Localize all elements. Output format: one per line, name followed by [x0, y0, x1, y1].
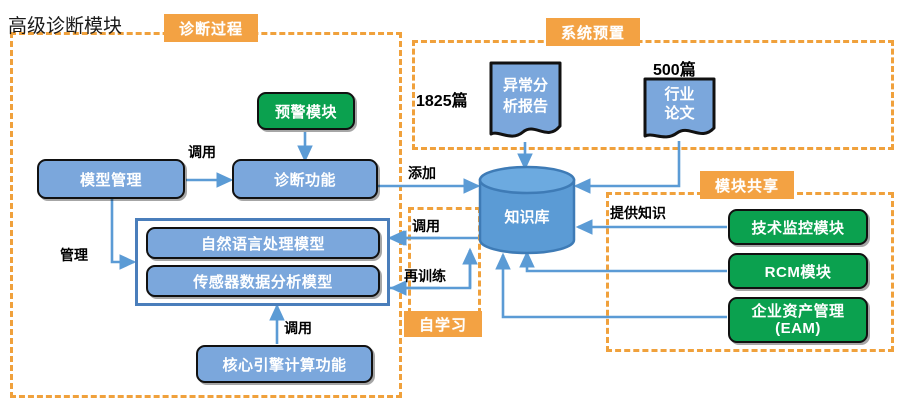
page-title: 高级诊断模块: [8, 11, 122, 38]
node-knowledge-base[interactable]: 知识库: [478, 166, 576, 254]
edge-label-add: 添加: [408, 163, 436, 183]
edge-label-manage: 管理: [60, 245, 88, 265]
group-label-diagnosis-process: 诊断过程: [164, 14, 258, 42]
group-box-diagnosis-process: [10, 32, 402, 398]
count-label-reports: 1825篇: [416, 87, 468, 111]
document-shape-report: [487, 60, 564, 144]
node-core-engine[interactable]: 核心引擎计算功能: [196, 345, 373, 383]
eam-module-label-line2: (EAM): [775, 320, 821, 337]
cylinder-shape: [478, 166, 576, 254]
node-tech-monitor-module[interactable]: 技术监控模块: [728, 209, 868, 245]
node-industry-paper[interactable]: 行业 论文: [641, 76, 718, 144]
document-shape-paper: [641, 76, 718, 144]
node-diagnosis-function[interactable]: 诊断功能: [232, 159, 378, 199]
edge-label-invoke-engine: 调用: [284, 318, 312, 338]
node-eam-module[interactable]: 企业资产管理 (EAM): [728, 297, 868, 343]
group-label-module-sharing: 模块共享: [700, 171, 794, 199]
eam-module-label-line1: 企业资产管理: [751, 303, 844, 320]
count-label-papers: 500篇: [653, 56, 696, 80]
node-nlp-model[interactable]: 自然语言处理模型: [146, 227, 380, 259]
node-model-management[interactable]: 模型管理: [37, 159, 185, 199]
edge-label-invoke-kb: 调用: [412, 216, 440, 236]
edge-label-provide-knowledge: 提供知识: [610, 203, 666, 223]
edge-label-invoke-diagnosis: 调用: [188, 142, 216, 162]
node-warning-module[interactable]: 预警模块: [257, 92, 355, 130]
diagram-canvas: 高级诊断模块 诊断过程 系统预置 模块共享 自学习: [0, 0, 908, 418]
edge-label-retrain: 再训练: [404, 266, 446, 286]
group-label-self-learning: 自学习: [404, 311, 482, 337]
node-sensor-model[interactable]: 传感器数据分析模型: [146, 265, 380, 297]
group-label-system-preset: 系统预置: [546, 18, 640, 46]
node-anomaly-report[interactable]: 异常分 析报告: [487, 60, 564, 144]
node-rcm-module[interactable]: RCM模块: [728, 253, 868, 289]
